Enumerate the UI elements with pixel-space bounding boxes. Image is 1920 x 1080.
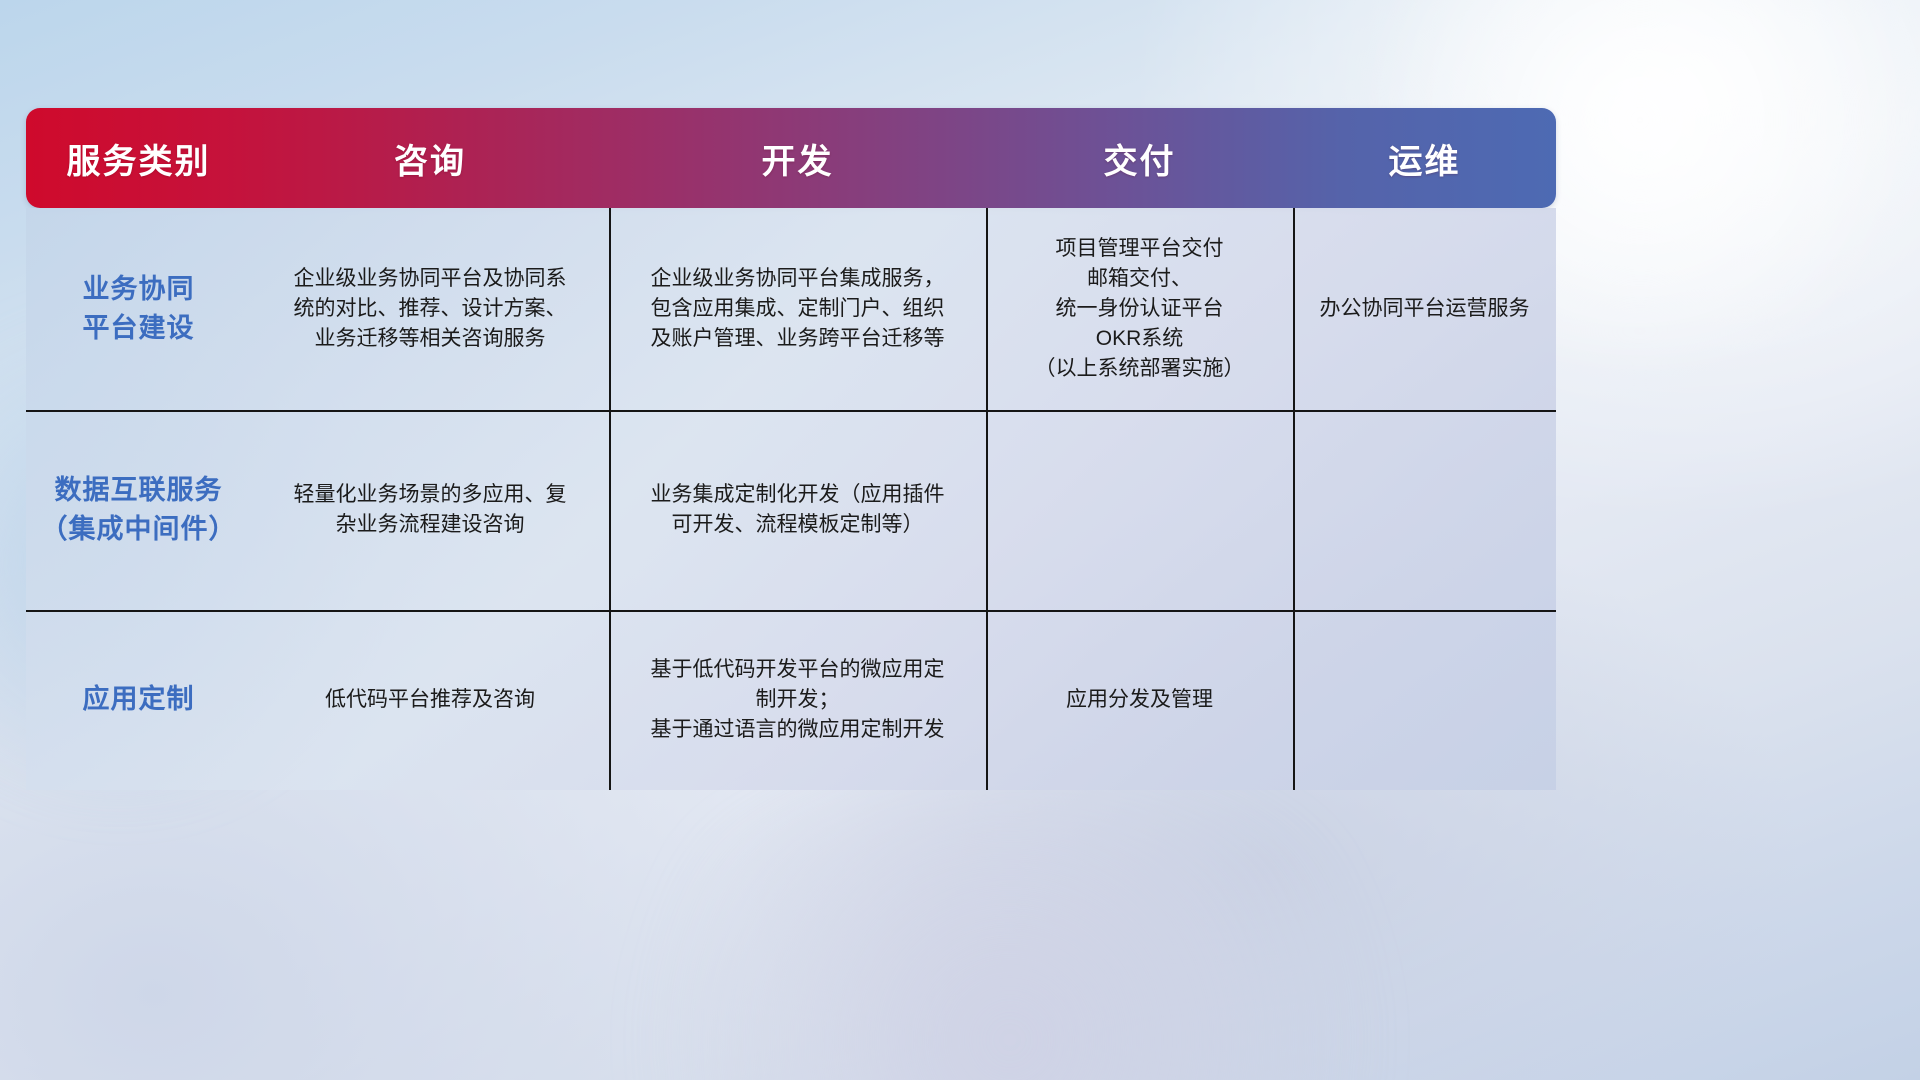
cell-delivery: 应用分发及管理 [986,610,1293,790]
row-category-label: 业务协同 平台建设 [26,208,251,410]
table-header-row: 服务类别 咨询 开发 交付 运维 [26,108,1556,208]
table-row: 应用定制 低代码平台推荐及咨询 基于低代码开发平台的微应用定 制开发； 基于通过… [26,610,1556,790]
table-row: 业务协同 平台建设 企业级业务协同平台及协同系 统的对比、推荐、设计方案、 业务… [26,208,1556,410]
row-category-label: 数据互联服务 （集成中间件） [26,410,251,610]
row-divider [26,410,1556,412]
cell-operations [1293,410,1556,610]
column-divider [986,208,988,790]
column-header-development: 开发 [609,108,986,208]
column-header-category: 服务类别 [26,108,251,208]
row-divider [26,610,1556,612]
cell-delivery [986,410,1293,610]
cell-consulting: 企业级业务协同平台及协同系 统的对比、推荐、设计方案、 业务迁移等相关咨询服务 [251,208,609,410]
table-body: 业务协同 平台建设 企业级业务协同平台及协同系 统的对比、推荐、设计方案、 业务… [26,208,1556,790]
cell-development: 业务集成定制化开发（应用插件 可开发、流程模板定制等） [609,410,986,610]
cell-delivery: 项目管理平台交付 邮箱交付、 统一身份认证平台 OKR系统 （以上系统部署实施） [986,208,1293,410]
column-divider [609,208,611,790]
cell-operations: 办公协同平台运营服务 [1293,208,1556,410]
column-header-consulting: 咨询 [251,108,609,208]
cell-development: 基于低代码开发平台的微应用定 制开发； 基于通过语言的微应用定制开发 [609,610,986,790]
cell-development: 企业级业务协同平台集成服务， 包含应用集成、定制门户、组织 及账户管理、业务跨平… [609,208,986,410]
cell-operations [1293,610,1556,790]
column-divider [1293,208,1295,790]
cell-consulting: 轻量化业务场景的多应用、复 杂业务流程建设咨询 [251,410,609,610]
column-header-delivery: 交付 [986,108,1293,208]
column-header-operations: 运维 [1293,108,1556,208]
service-matrix-table: 服务类别 咨询 开发 交付 运维 业务协同 平台建设 企业级业务协同平台及协同系… [26,108,1556,790]
cell-consulting: 低代码平台推荐及咨询 [251,610,609,790]
table-row: 数据互联服务 （集成中间件） 轻量化业务场景的多应用、复 杂业务流程建设咨询 业… [26,410,1556,610]
row-category-label: 应用定制 [26,610,251,790]
background-glow-bottom [560,780,1460,1080]
